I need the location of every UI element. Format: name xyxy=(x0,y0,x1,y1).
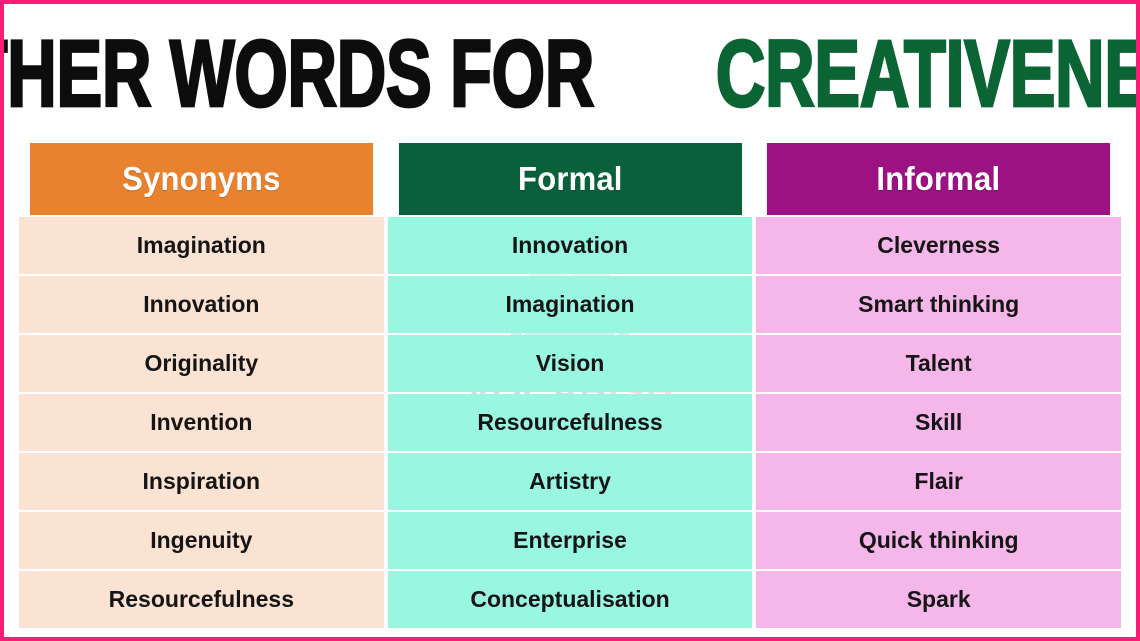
table-cell: Resourcefulness xyxy=(388,394,753,451)
table-column-formal: Formal VOCABISH Innovation Imagination V… xyxy=(388,143,753,628)
poster-root: OTHER WORDS FORCREATIVENESS Synonyms Ima… xyxy=(0,0,1140,641)
table-cell: Artistry xyxy=(388,453,753,510)
table-cell: Resourcefulness xyxy=(19,571,384,628)
table-cell: Talent xyxy=(756,335,1121,392)
column-header-synonyms: Synonyms xyxy=(30,143,373,215)
table-cell: Quick thinking xyxy=(756,512,1121,569)
table-cell: Skill xyxy=(756,394,1121,451)
table-cell: Flair xyxy=(756,453,1121,510)
table-cell: Enterprise xyxy=(388,512,753,569)
table-cell: Ingenuity xyxy=(19,512,384,569)
table-cell: Originality xyxy=(19,335,384,392)
table-cell: Imagination xyxy=(19,217,384,274)
table-cell: Innovation xyxy=(19,276,384,333)
table-cell: Innovation xyxy=(388,217,753,274)
table-column-informal: Informal Cleverness Smart thinking Talen… xyxy=(756,143,1121,628)
table-cell: Conceptualisation xyxy=(388,571,753,628)
table-cell: Spark xyxy=(756,571,1121,628)
table-cell: Smart thinking xyxy=(756,276,1121,333)
table-cell: Invention xyxy=(19,394,384,451)
column-header-formal: Formal xyxy=(399,143,742,215)
page-title-plain: OTHER WORDS FOR xyxy=(0,27,594,121)
page-title-accent: CREATIVENESS xyxy=(716,27,1140,121)
column-header-informal: Informal xyxy=(767,143,1110,215)
table-cell: Cleverness xyxy=(756,217,1121,274)
table-cell: Inspiration xyxy=(19,453,384,510)
table-cell: Vision xyxy=(388,335,753,392)
table-cell: Imagination xyxy=(388,276,753,333)
page-title: OTHER WORDS FORCREATIVENESS xyxy=(4,18,1136,130)
table-column-synonyms: Synonyms Imagination Innovation Original… xyxy=(19,143,384,628)
synonyms-table: Synonyms Imagination Innovation Original… xyxy=(19,143,1121,628)
